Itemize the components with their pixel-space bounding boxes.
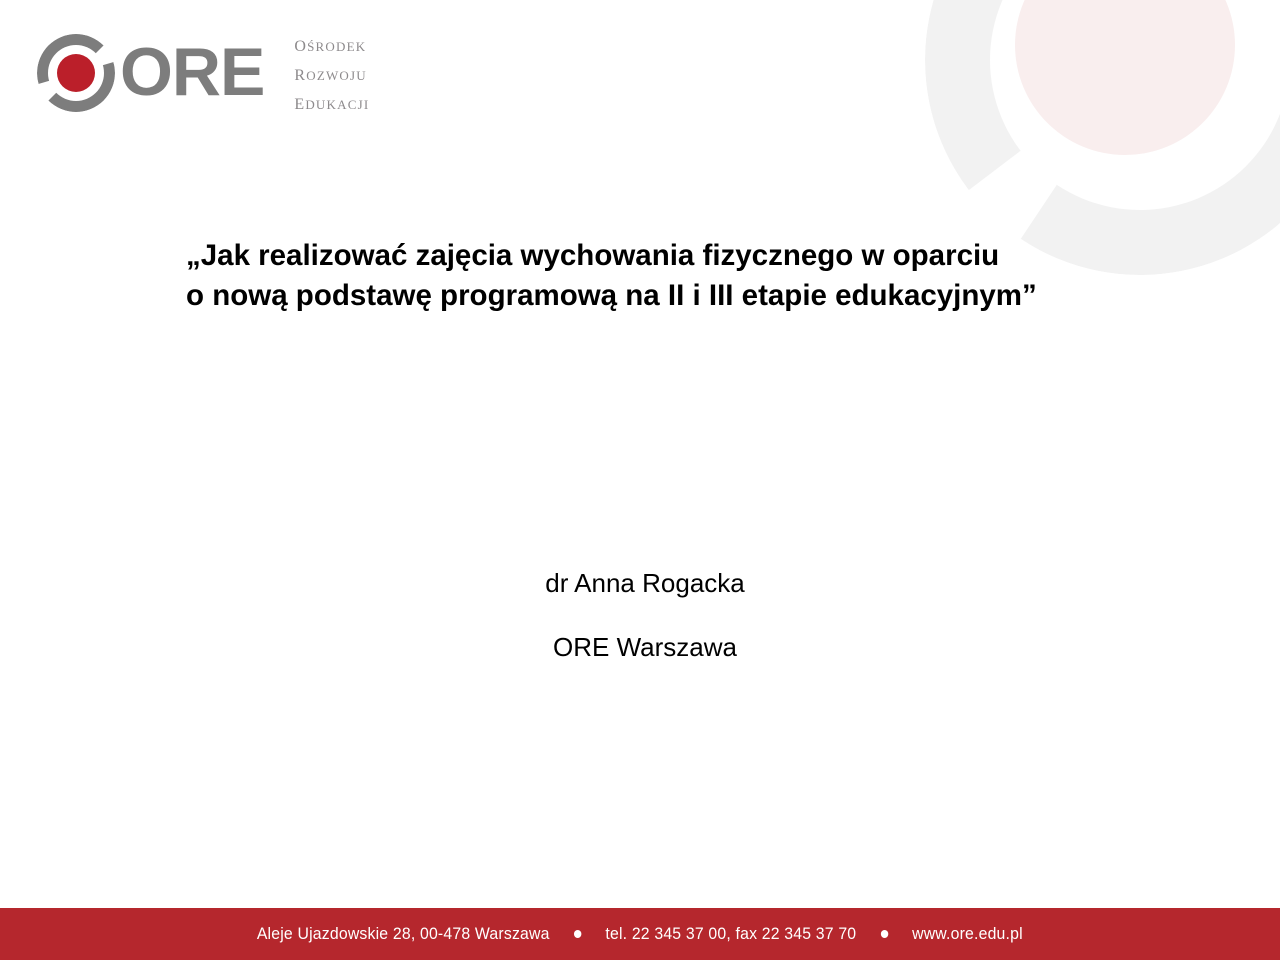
author-name: dr Anna Rogacka [0,566,1280,600]
footer-bar: Aleje Ujazdowskie 28, 00-478 Warszawa te… [0,908,1280,960]
footer-website[interactable]: www.ore.edu.pl [912,924,1023,944]
footer-separator-dot-icon [574,930,581,938]
author-organization: ORE Warszawa [0,630,1280,664]
ore-ring-icon [34,31,118,115]
footer-contact-line: Aleje Ujazdowskie 28, 00-478 Warszawa te… [257,924,1023,944]
footer-separator-dot-icon [881,930,888,938]
ore-red-dot-icon [57,54,95,92]
footer-phone: tel. 22 345 37 00, fax 22 345 37 70 [606,924,857,944]
slide-title: „Jak realizować zajęcia wychowania fizyc… [186,236,1146,316]
title-line-1: „Jak realizować zajęcia wychowania fizyc… [186,236,1146,276]
title-slide: ORE Ośrodek Rozwoju Edukacji „Jak realiz… [0,0,1280,960]
ore-logo-letters: ORE [120,38,264,106]
logo-word-edukacji: Edukacji [294,88,369,117]
decor-ring-shape [925,0,1280,275]
decorative-ring-motif [860,0,1280,400]
ore-logo: ORE Ośrodek Rozwoju Edukacji [34,28,369,117]
footer-address: Aleje Ujazdowskie 28, 00-478 Warszawa [257,924,550,944]
title-line-2: o nową podstawę programową na II i III e… [186,276,1146,316]
decor-pink-circle [1015,0,1235,155]
logo-word-rozwoju: Rozwoju [294,59,369,88]
ore-logo-wordmark: Ośrodek Rozwoju Edukacji [294,30,369,117]
author-block: dr Anna Rogacka ORE Warszawa [0,566,1280,664]
logo-word-osrodek: Ośrodek [294,30,369,59]
